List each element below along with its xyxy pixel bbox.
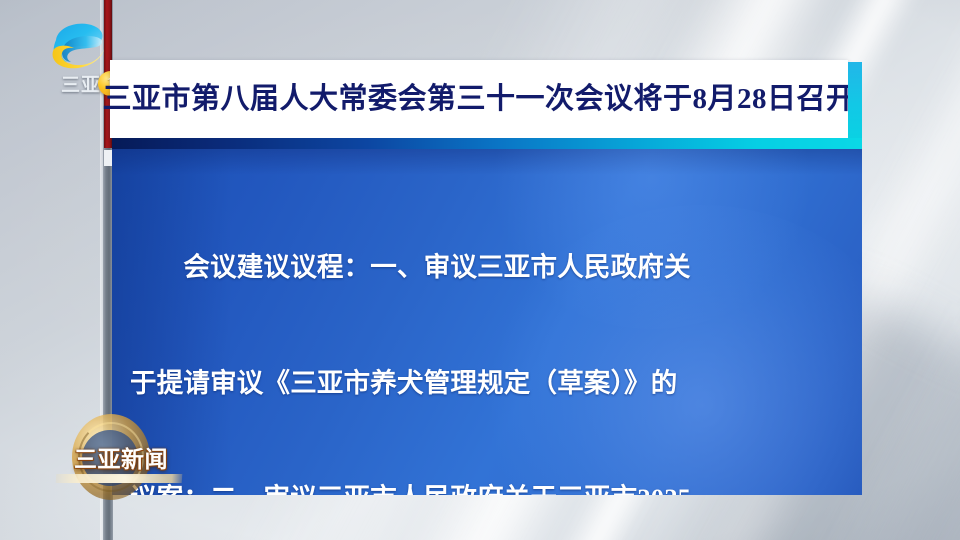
sanya-swoosh-logo-icon — [36, 18, 120, 74]
body-line: 会议建议议程：一、审议三亚市人民政府关 — [130, 248, 846, 287]
body-paragraph: 会议建议议程：一、审议三亚市人民政府关 于提请审议《三亚市养犬管理规定（草案）》… — [130, 171, 846, 495]
gradient-divider-strip — [112, 138, 862, 149]
body-line: 议案；二、审议三亚市人民政府关于三亚市2025 — [130, 479, 846, 495]
headline-cyan-accent-bar — [848, 62, 862, 148]
broadcast-screen: 三亚 1 三亚市第八届人大常委会第三十一次会议将于8月28日召开 会议建议议程：… — [0, 0, 960, 540]
news-bug-label: 三亚新闻 — [62, 440, 180, 474]
body-line: 于提请审议《三亚市养犬管理规定（草案）》的 — [130, 364, 846, 403]
news-program-bug: 三亚新闻 — [52, 414, 184, 506]
headline-banner: 三亚市第八届人大常委会第三十一次会议将于8月28日召开 — [110, 60, 848, 138]
headline-text: 三亚市第八届人大常委会第三十一次会议将于8月28日召开 — [103, 85, 856, 114]
body-text-panel: 会议建议议程：一、审议三亚市人民政府关 于提请审议《三亚市养犬管理规定（草案）》… — [112, 149, 862, 495]
news-bug-shelf — [56, 474, 183, 483]
